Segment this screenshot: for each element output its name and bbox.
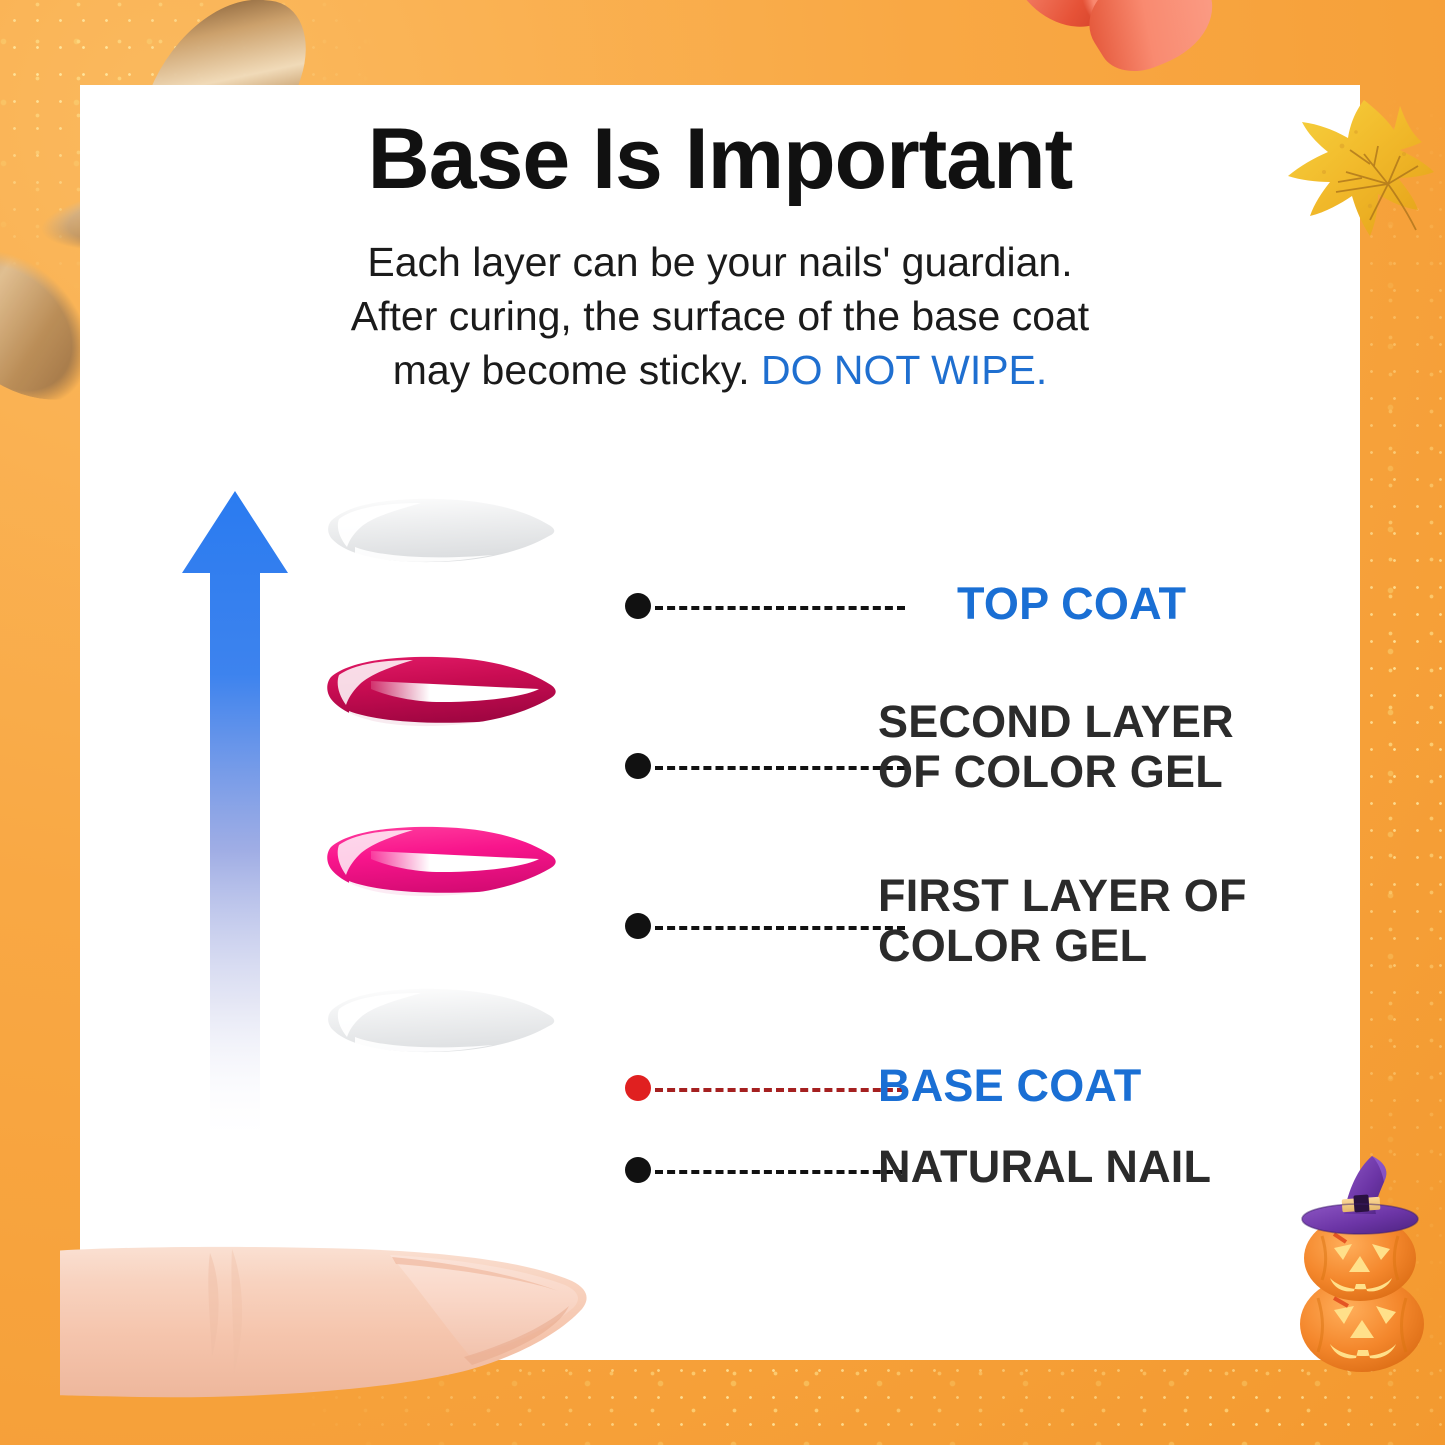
page-title: Base Is Important	[80, 110, 1360, 209]
poster-root: Base Is Important Each layer can be your…	[0, 0, 1445, 1445]
content-card: Base Is Important Each layer can be your…	[80, 85, 1360, 1360]
layer-label-second-color-gel: SECOND LAYER OF COLOR GEL	[878, 697, 1234, 798]
subtitle: Each layer can be your nails' guardian. …	[200, 235, 1240, 397]
connector-line-first-color-gel	[655, 926, 905, 930]
subtitle-line-3: may become sticky.	[393, 347, 761, 393]
jack-o-lantern-stack-icon	[1272, 1148, 1445, 1378]
nail-base-coat	[325, 975, 565, 1075]
connector-line-base-coat	[655, 1088, 905, 1092]
nail-first-color-gel	[325, 815, 565, 915]
connector-dot-natural-nail	[625, 1157, 651, 1183]
layer-direction-arrow	[170, 485, 300, 1145]
maple-leaf-icon	[1278, 98, 1445, 248]
connector-dot-top-coat	[625, 593, 651, 619]
layer-label-natural-nail: NATURAL NAIL	[878, 1142, 1211, 1192]
nail-top-coat	[325, 485, 565, 585]
subtitle-line-2: After curing, the surface of the base co…	[351, 293, 1089, 339]
connector-dot-base-coat	[625, 1075, 651, 1101]
connector-line-top-coat	[655, 606, 905, 610]
nail-second-color-gel	[325, 645, 565, 745]
do-not-wipe-warning: DO NOT WIPE.	[761, 347, 1047, 393]
layer-label-first-color-gel: FIRST LAYER OF COLOR GEL	[878, 871, 1247, 972]
connector-dot-second-color-gel	[625, 753, 651, 779]
layer-label-base-coat: BASE COAT	[878, 1061, 1141, 1111]
connector-line-natural-nail	[655, 1170, 905, 1174]
subtitle-line-1: Each layer can be your nails' guardian.	[367, 239, 1072, 285]
connector-dot-first-color-gel	[625, 913, 651, 939]
nail-natural-finger-photo	[60, 1237, 600, 1445]
connector-line-second-color-gel	[655, 766, 905, 770]
layer-label-top-coat: TOP COAT	[957, 579, 1186, 629]
